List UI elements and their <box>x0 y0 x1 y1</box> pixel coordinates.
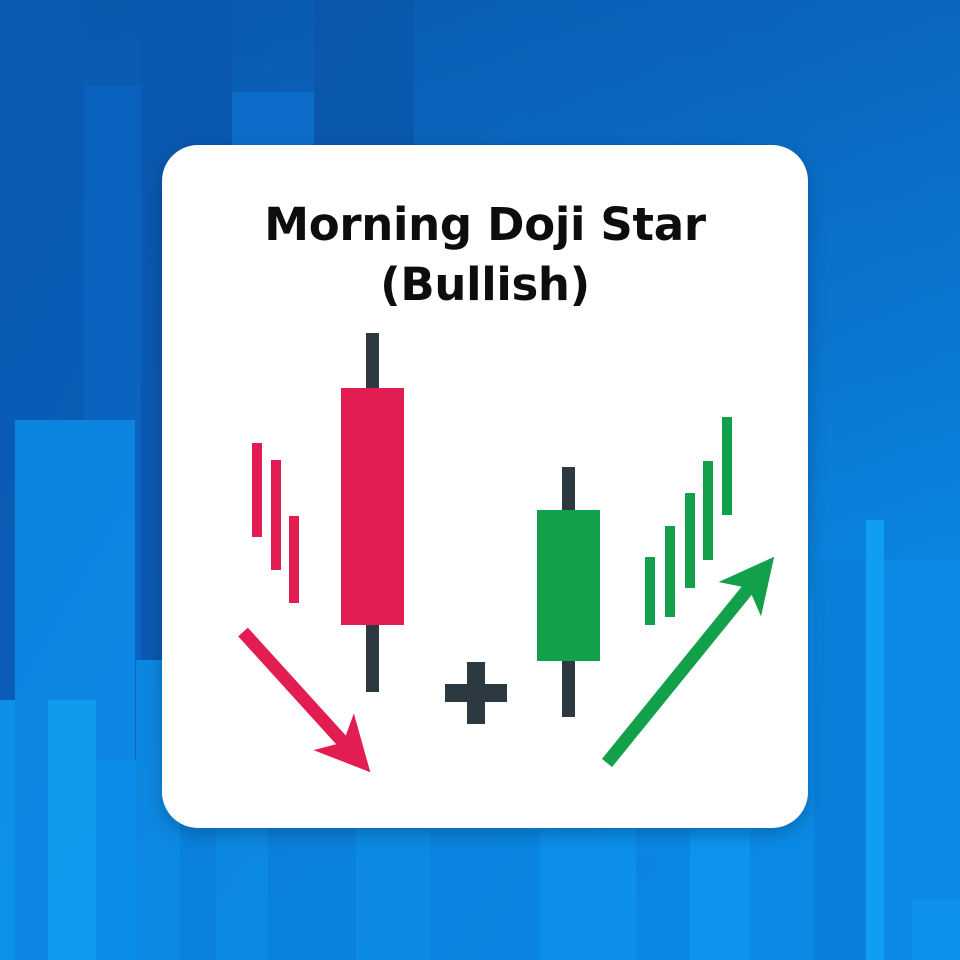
bearish-mini-bars <box>252 443 299 603</box>
mini-bar <box>289 516 299 603</box>
bullish-mini-bars <box>645 417 732 625</box>
pattern-illustration: Morning Doji Star (Bullish) <box>0 0 960 960</box>
mini-bar <box>271 460 281 570</box>
bearish-candle-body <box>341 388 404 625</box>
mini-bar <box>703 461 713 560</box>
plus-vertical-arm <box>467 662 485 724</box>
up-trend-arrow <box>607 578 757 763</box>
mini-bar <box>685 493 695 588</box>
bearish-candle <box>341 333 404 692</box>
bullish-candle <box>537 467 600 717</box>
bullish-candle-body <box>537 510 600 661</box>
mini-bar <box>665 526 675 617</box>
mini-bar <box>645 557 655 625</box>
mini-bar <box>722 417 732 515</box>
candlestick-diagram <box>0 0 960 960</box>
mini-bar <box>252 443 262 537</box>
plus-operator <box>445 662 507 724</box>
down-trend-arrow <box>243 632 352 752</box>
